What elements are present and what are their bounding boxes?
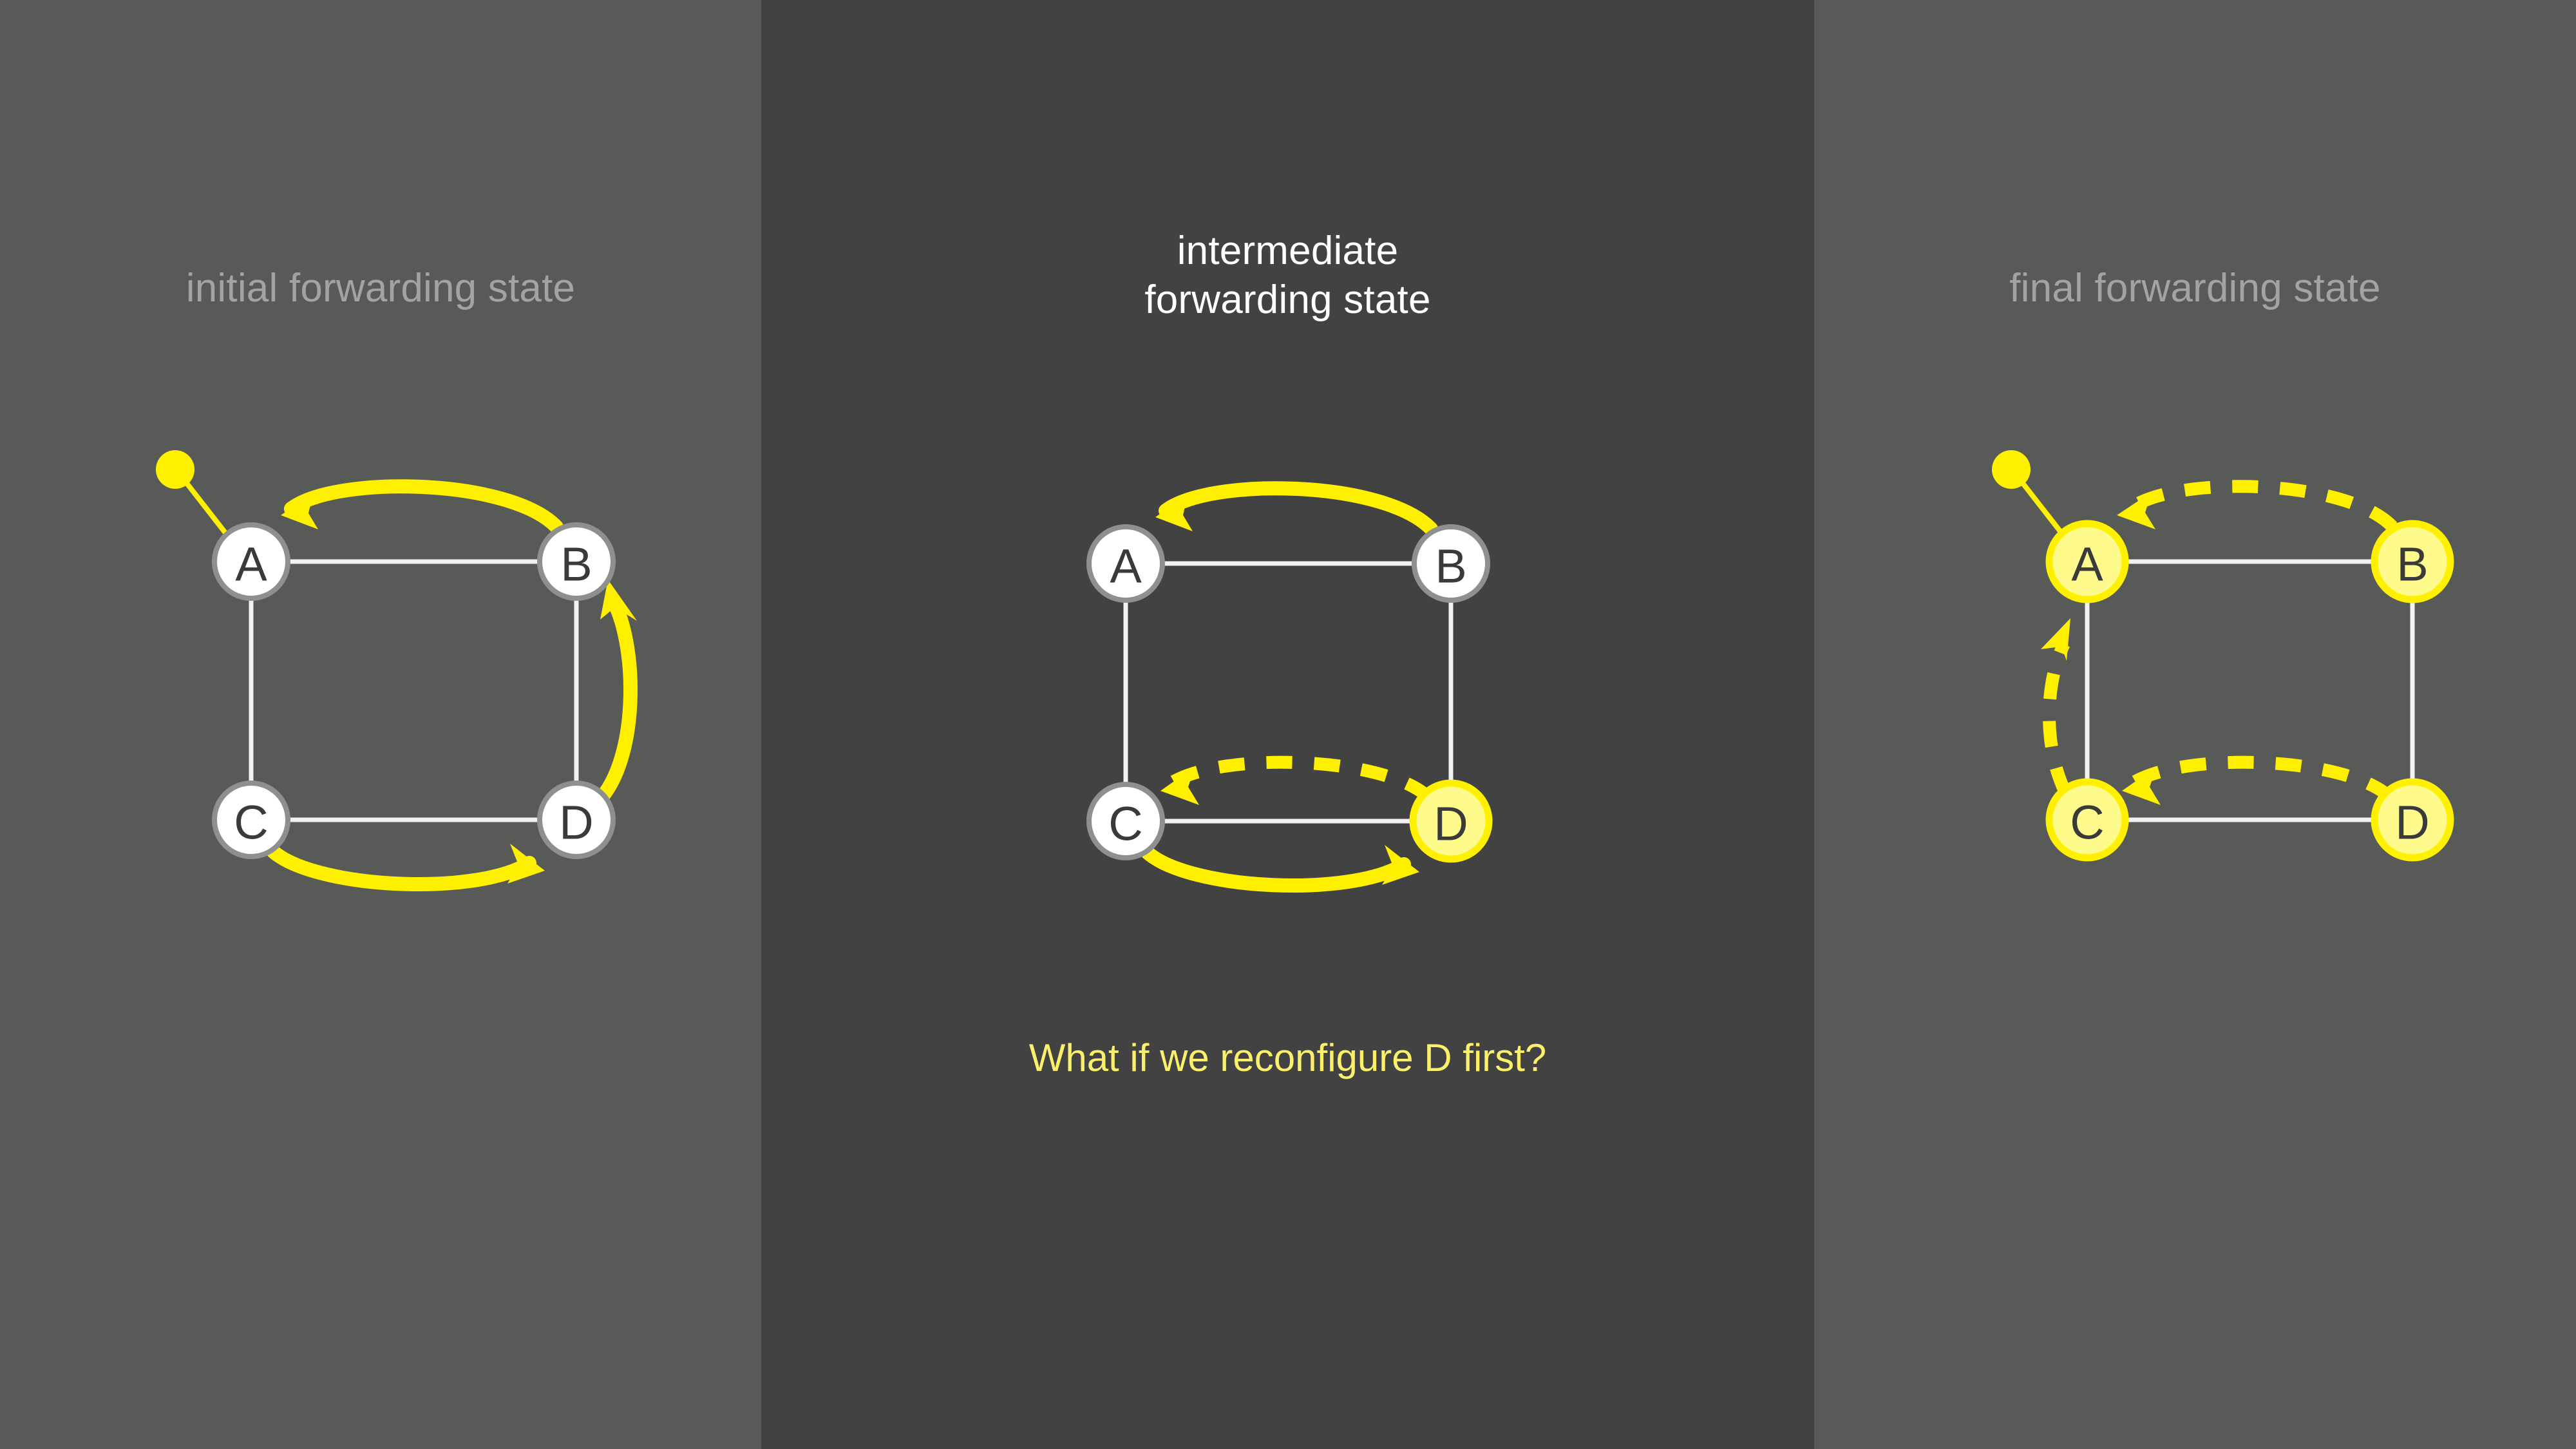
graph-initial: A B C D (0, 0, 761, 1449)
node-b[interactable]: B (1414, 527, 1488, 600)
slide-caption: What if we reconfigure D first? (761, 1036, 1814, 1080)
source-dot-icon (1992, 450, 2031, 489)
arrow-d-to-b (599, 580, 637, 800)
panel-intermediate-forwarding-state: intermediate forwarding state (761, 0, 1814, 1449)
node-d-label: D (559, 796, 593, 849)
arrow-b-to-a (1155, 488, 1431, 531)
slide-canvas: initial forwarding state (0, 0, 2576, 1449)
node-c-label: C (1108, 797, 1142, 851)
node-d[interactable]: D (2374, 782, 2450, 858)
panel-final-forwarding-state: final forwarding state (1814, 0, 2576, 1449)
node-d-label: D (2395, 796, 2429, 849)
node-c-label: C (234, 796, 268, 849)
arrow-b-to-a (281, 486, 556, 529)
node-c-label: C (2070, 796, 2104, 849)
node-a[interactable]: A (2049, 524, 2125, 600)
node-a[interactable]: A (1089, 527, 1162, 600)
arrow-d-to-c (1160, 762, 1428, 805)
node-d[interactable]: D (1413, 783, 1489, 859)
source-dot-icon (156, 450, 194, 489)
node-a-label: A (2071, 538, 2103, 591)
graph-intermediate: A B C D (761, 0, 1814, 1449)
node-c[interactable]: C (214, 783, 288, 857)
arrow-c-to-d (273, 844, 545, 884)
node-a-label: A (1110, 540, 1142, 593)
node-b-label: B (2396, 538, 2428, 591)
node-b[interactable]: B (540, 525, 613, 598)
node-b-label: B (1435, 540, 1466, 593)
arrow-d-to-c (2122, 762, 2390, 805)
node-d-label: D (1434, 797, 1468, 851)
node-a[interactable]: A (214, 525, 288, 598)
node-c[interactable]: C (1089, 784, 1162, 858)
arrow-c-to-d (1148, 845, 1419, 885)
node-a-label: A (235, 538, 267, 591)
arrow-c-to-a (2041, 618, 2070, 792)
arrow-b-to-a (2117, 486, 2392, 529)
graph-final: A B C D (1814, 0, 2576, 1449)
node-b[interactable]: B (2374, 524, 2450, 600)
node-c[interactable]: C (2049, 782, 2125, 858)
panel-initial-forwarding-state: initial forwarding state (0, 0, 761, 1449)
node-d[interactable]: D (540, 783, 613, 857)
node-b-label: B (560, 538, 592, 591)
